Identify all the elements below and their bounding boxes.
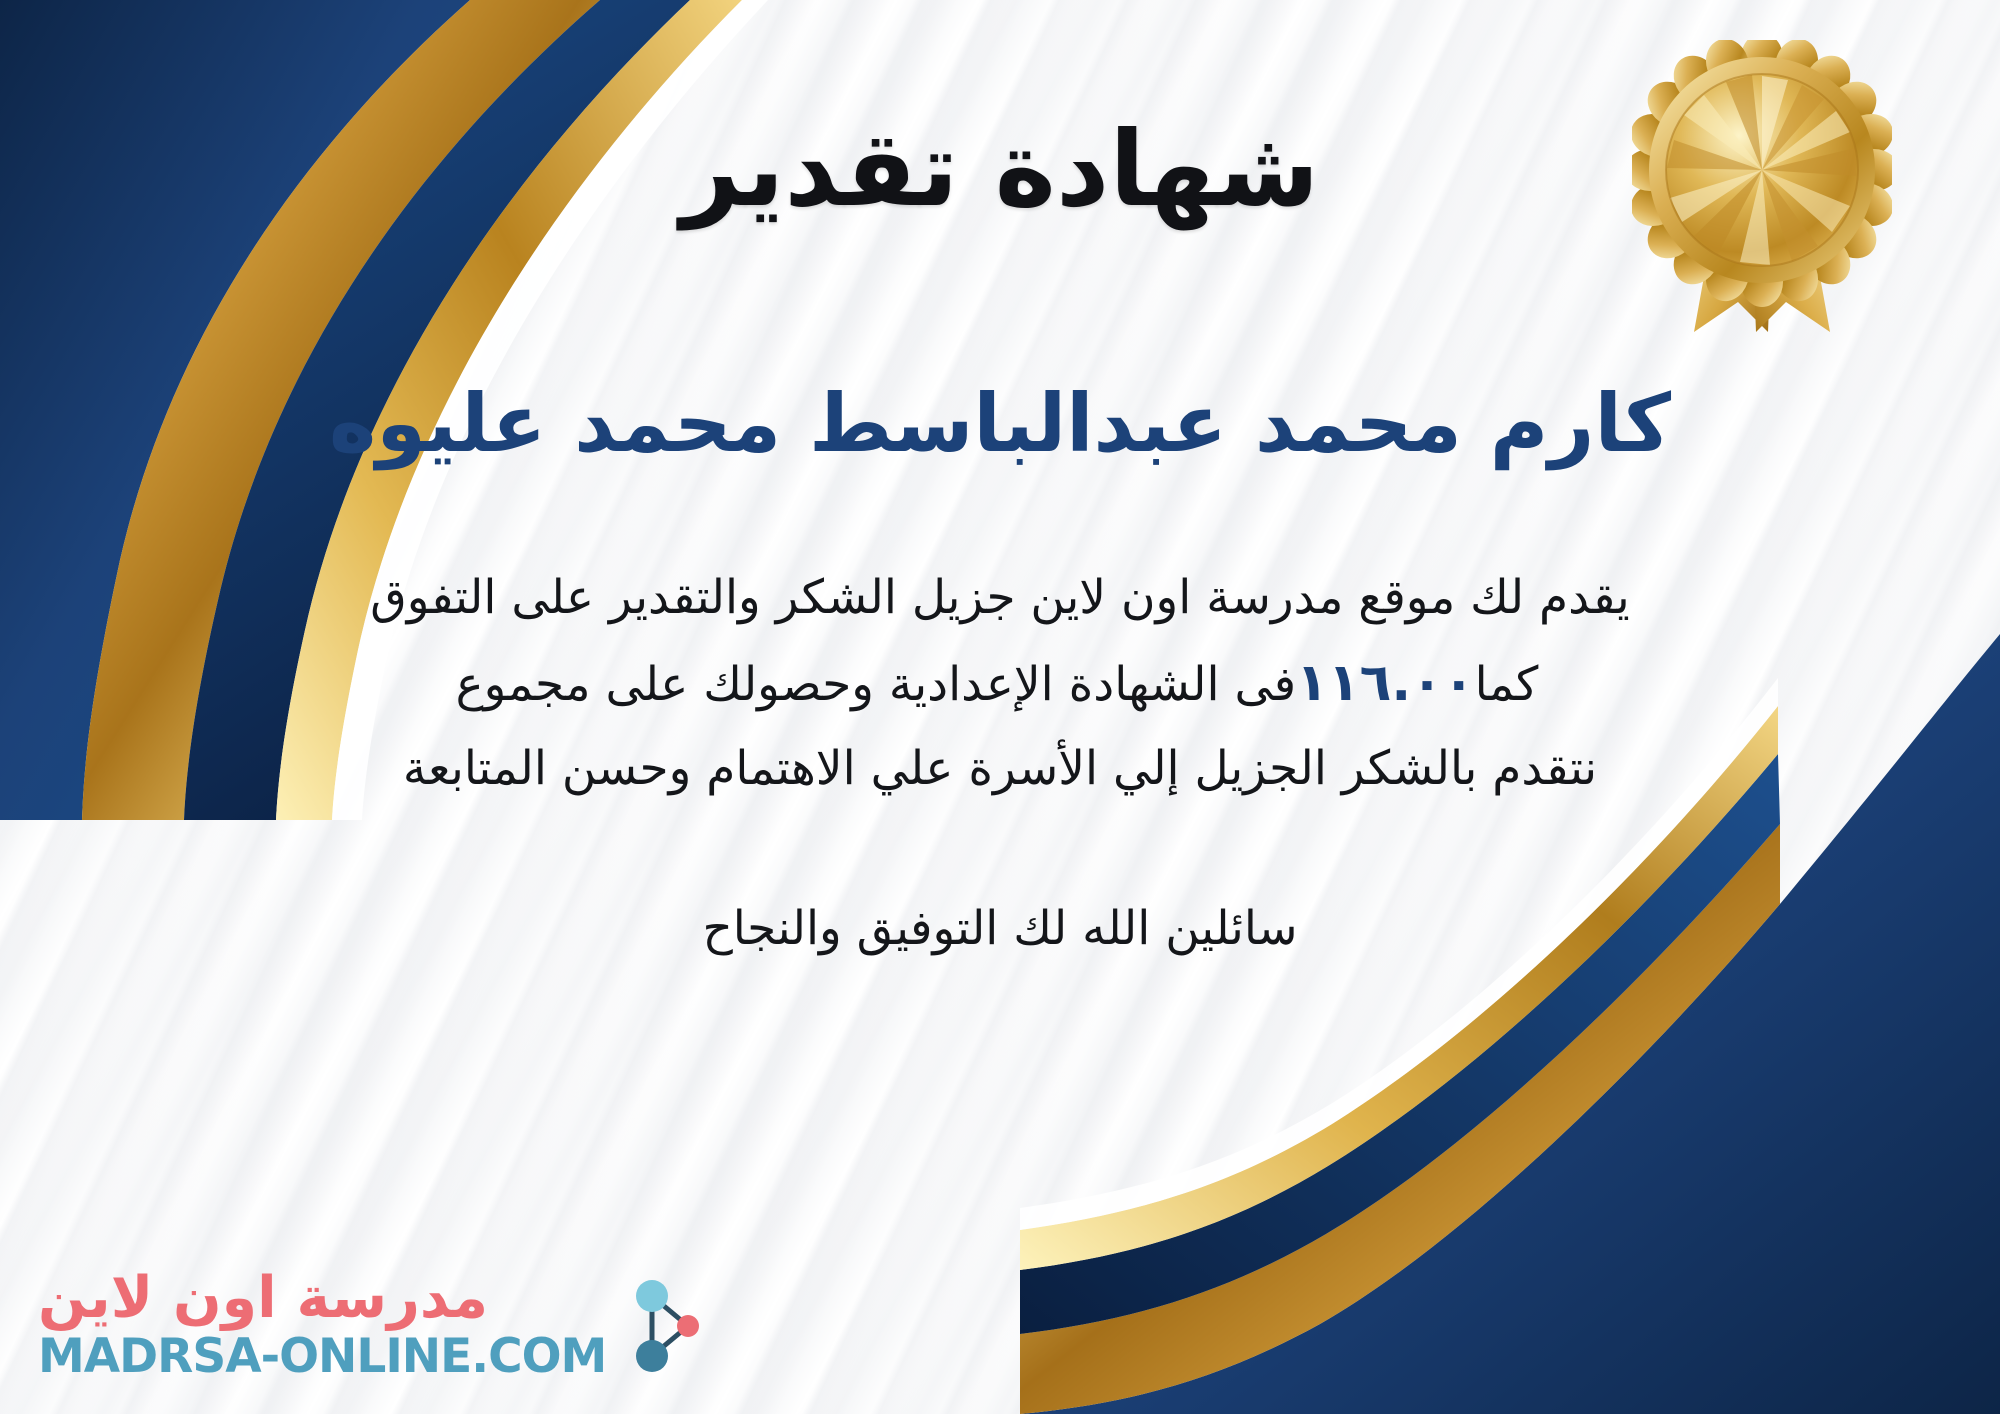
- brand-name-arabic: مدرسة اون لاين: [38, 1270, 488, 1327]
- certificate-canvas: شهادة تقدير كارم محمد عبدالباسط محمد علي…: [0, 0, 2000, 1414]
- brand-website-url[interactable]: MADRSA-ONLINE.COM: [38, 1333, 606, 1380]
- body-line-1: يقدم لك موقع مدرسة اون لاين جزيل الشكر و…: [120, 558, 1880, 639]
- certificate-content: شهادة تقدير كارم محمد عبدالباسط محمد علي…: [0, 0, 2000, 1414]
- body-line-3: نتقدم بالشكر الجزيل إلي الأسرة علي الاهت…: [120, 729, 1880, 810]
- page-title: شهادة تقدير: [681, 112, 1320, 226]
- body-line-2: كما ١١٦.٠٠ فى الشهادة الإعدادية وحصولك ع…: [120, 639, 1880, 728]
- certificate-body: يقدم لك موقع مدرسة اون لاين جزيل الشكر و…: [120, 558, 1880, 809]
- network-nodes-icon: [622, 1270, 718, 1380]
- recipient-name: كارم محمد عبدالباسط محمد عليوه: [329, 376, 1671, 472]
- body-line-2-trailing-text: كما: [1475, 645, 1603, 726]
- total-score-value: ١١٦.٠٠: [1296, 639, 1474, 728]
- closing-wish-text: سائلين الله لك التوفيق والنجاح: [702, 901, 1297, 956]
- body-line-2-leading-text: فى الشهادة الإعدادية وحصولك على مجموع: [398, 645, 1297, 726]
- brand-text-block: مدرسة اون لاين MADRSA-ONLINE.COM: [38, 1270, 606, 1380]
- brand-logo[interactable]: مدرسة اون لاين MADRSA-ONLINE.COM: [38, 1270, 718, 1380]
